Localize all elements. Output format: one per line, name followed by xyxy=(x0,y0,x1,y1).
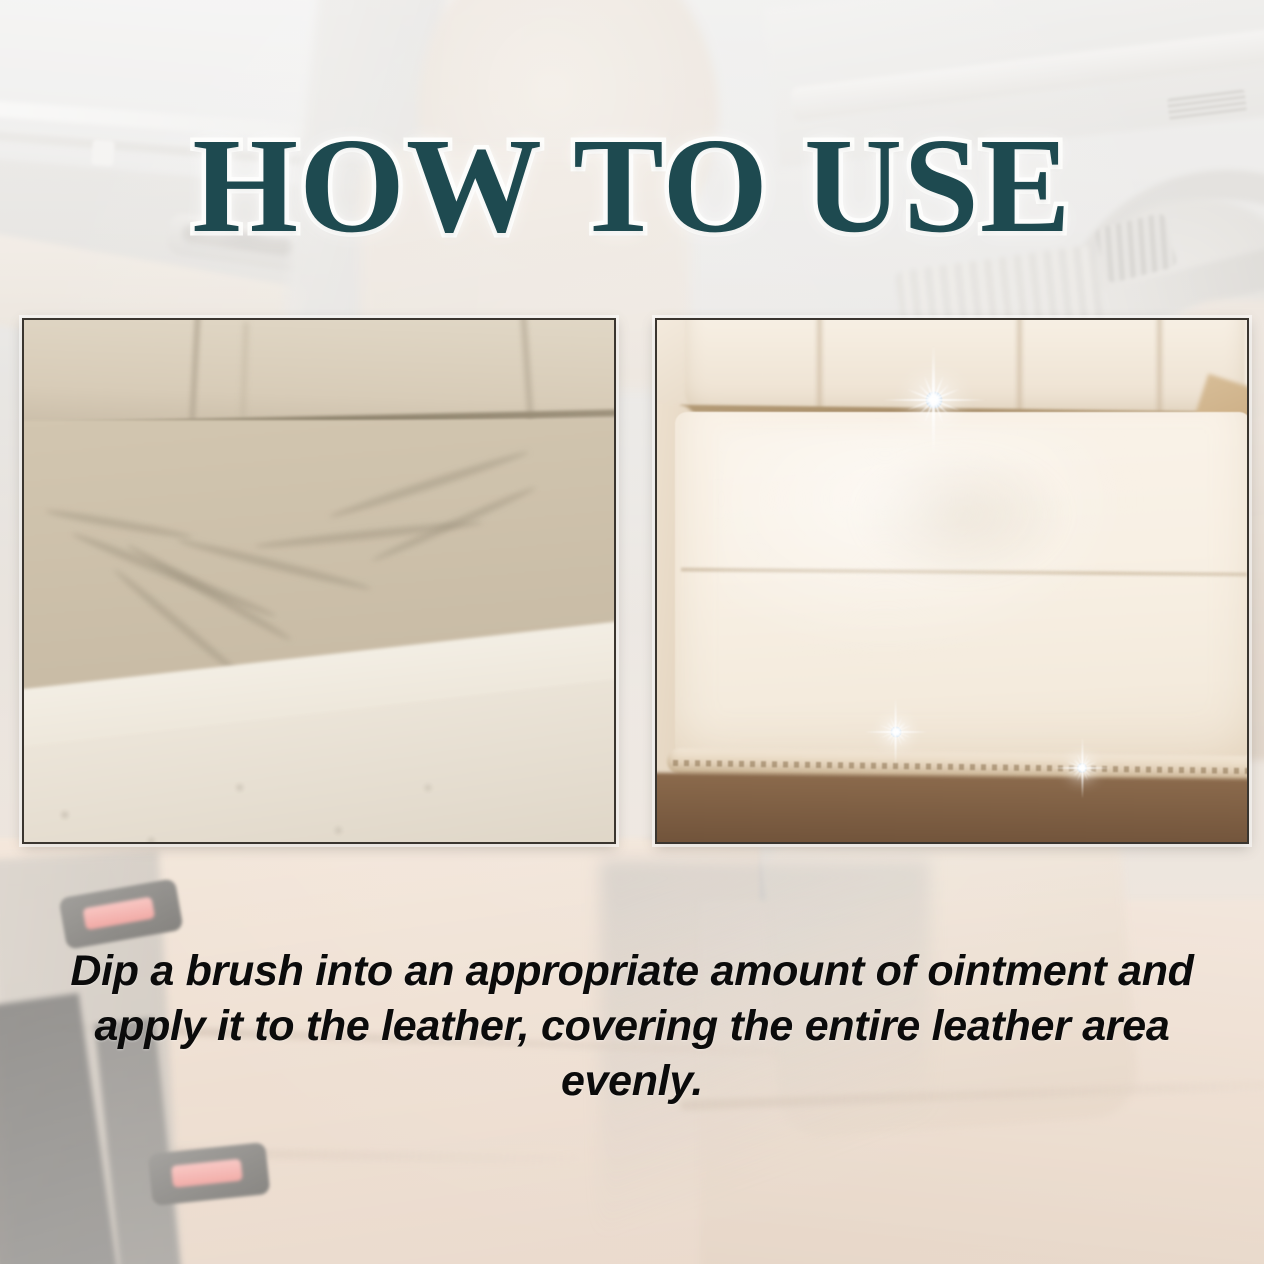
before-leather-scene xyxy=(24,320,614,842)
after-backrest-crease xyxy=(817,320,822,418)
page-title: HOW TO USE xyxy=(0,118,1264,254)
after-gloss-highlight xyxy=(717,430,1137,660)
photo-before xyxy=(22,318,616,844)
after-floor xyxy=(657,773,1247,842)
after-backrest-crease xyxy=(1157,320,1162,418)
photo-after xyxy=(655,318,1249,844)
after-leather-scene xyxy=(657,320,1247,842)
after-backrest-crease xyxy=(1017,320,1022,418)
how-to-use-poster: HOW TO USE xyxy=(0,0,1264,1264)
instruction-caption: Dip a brush into an appropriate amount o… xyxy=(0,944,1264,1109)
